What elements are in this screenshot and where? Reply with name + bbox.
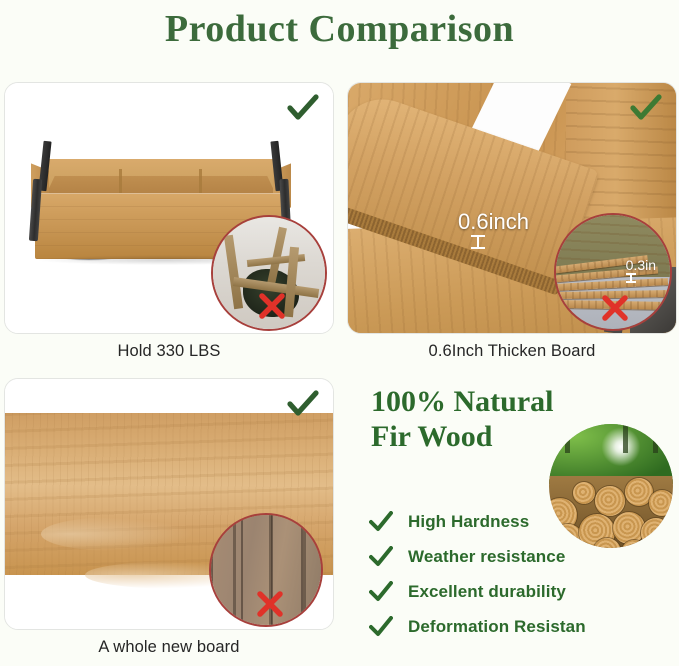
feature-list: High Hardness Weather resistance Excelle… [369, 504, 586, 644]
feature-label: High Hardness [408, 512, 529, 532]
bad-example-inset: 0.3in [554, 213, 672, 331]
panel-natural-fir-wood: 100% Natural Fir Wood [347, 378, 677, 666]
bad-example-inset [211, 215, 327, 331]
panel-card: 0.6inch 0.3in [347, 82, 677, 334]
panel-caption: Hold 330 LBS [4, 342, 334, 361]
dimension-marker [471, 235, 485, 249]
comparison-grid: Hold 330 LBS 0.6inch [0, 56, 679, 665]
feature-label: Excellent durability [408, 582, 566, 602]
feature-label: Deformation Resistan [408, 617, 586, 637]
check-icon [286, 93, 320, 123]
inset-dimension-marker [626, 273, 636, 283]
panel-card [4, 82, 334, 334]
check-icon [286, 389, 320, 419]
inset-thickness-label: 0.3in [626, 257, 656, 273]
heading-line-1: 100% Natural [371, 384, 554, 419]
check-icon [369, 616, 393, 638]
bad-example-inset [209, 513, 323, 627]
feature-label: Weather resistance [408, 547, 565, 567]
thickness-label: 0.6inch [458, 209, 529, 235]
feature-item: High Hardness [369, 504, 586, 539]
panel-hold-330-lbs: Hold 330 LBS [4, 82, 334, 370]
feature-item: Deformation Resistan [369, 609, 586, 644]
cross-icon [255, 589, 285, 619]
panel-caption: A whole new board [4, 638, 334, 657]
check-icon [629, 93, 663, 123]
heading-line-2: Fir Wood [371, 419, 554, 454]
cross-icon [257, 291, 287, 321]
panel-card [4, 378, 334, 630]
natural-wood-heading: 100% Natural Fir Wood [371, 384, 554, 454]
panel-whole-new-board: A whole new board [4, 378, 334, 666]
feature-item: Weather resistance [369, 539, 586, 574]
check-icon [369, 546, 393, 568]
page-title: Product Comparison [0, 0, 679, 56]
feature-item: Excellent durability [369, 574, 586, 609]
check-icon [369, 511, 393, 533]
check-icon [369, 581, 393, 603]
panel-caption: 0.6Inch Thicken Board [347, 342, 677, 361]
panel-thicken-board: 0.6inch 0.3in [347, 82, 677, 370]
cross-icon [600, 293, 630, 323]
